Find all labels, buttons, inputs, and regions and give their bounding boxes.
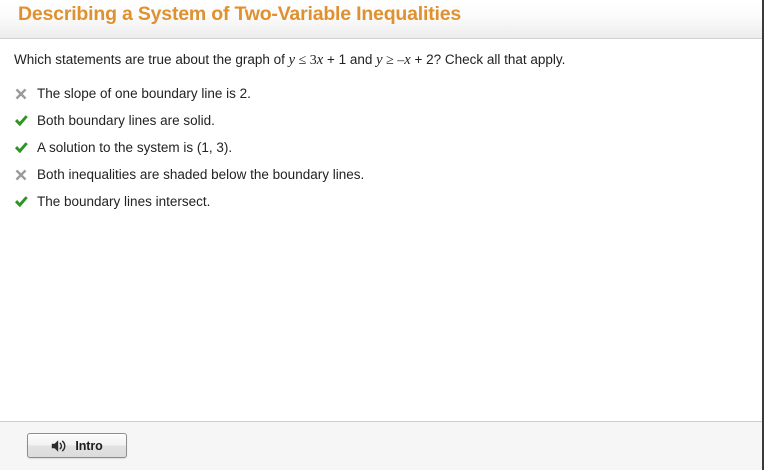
math-operator-first: ≤ 3 xyxy=(295,53,317,68)
x-icon xyxy=(14,166,34,184)
intro-audio-button[interactable]: Intro xyxy=(27,433,127,458)
list-item[interactable]: Both inequalities are shaded below the b… xyxy=(0,161,762,188)
check-icon xyxy=(14,112,34,130)
page-column: Describing a System of Two-Variable Ineq… xyxy=(0,0,762,470)
page-footer: Intro xyxy=(0,421,762,470)
check-icon xyxy=(14,139,34,157)
list-item[interactable]: A solution to the system is (1, 3). xyxy=(0,134,762,161)
question-text-part-1: Which statements are true about the grap… xyxy=(14,52,289,67)
statement-label: The boundary lines intersect. xyxy=(37,193,210,211)
statement-label: Both boundary lines are solid. xyxy=(37,112,215,130)
content-area: Which statements are true about the grap… xyxy=(0,40,762,421)
right-edge-rail xyxy=(762,0,772,470)
question-text-part-3: + 2? Check all that apply. xyxy=(411,52,566,67)
math-operator-second: ≥ – xyxy=(383,53,405,68)
lesson-page: Describing a System of Two-Variable Ineq… xyxy=(0,0,772,470)
page-header: Describing a System of Two-Variable Ineq… xyxy=(0,0,762,39)
right-edge-divider xyxy=(762,0,764,470)
statement-list: The slope of one boundary line is 2. Bot… xyxy=(0,80,762,215)
check-icon xyxy=(14,193,34,211)
page-title: Describing a System of Two-Variable Ineq… xyxy=(18,3,461,26)
list-item[interactable]: The slope of one boundary line is 2. xyxy=(0,80,762,107)
list-item[interactable]: Both boundary lines are solid. xyxy=(0,107,762,134)
statement-label: Both inequalities are shaded below the b… xyxy=(37,166,364,184)
x-icon xyxy=(14,85,34,103)
speaker-icon xyxy=(51,439,68,453)
statement-label: A solution to the system is (1, 3). xyxy=(37,139,232,157)
statement-label: The slope of one boundary line is 2. xyxy=(37,85,251,103)
question-prompt: Which statements are true about the grap… xyxy=(14,51,565,70)
list-item[interactable]: The boundary lines intersect. xyxy=(0,188,762,215)
intro-button-label: Intro xyxy=(75,439,102,453)
question-text-part-2: + 1 and xyxy=(323,52,376,67)
